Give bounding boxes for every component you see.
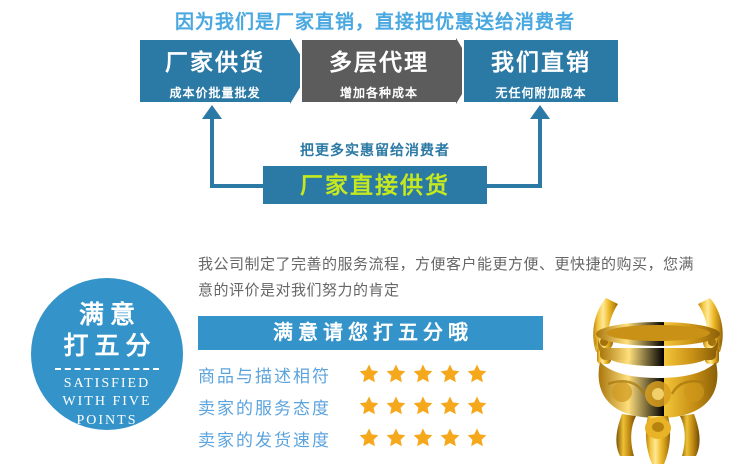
star-icon[interactable] xyxy=(358,427,380,449)
badge-cn-line-2: 打五分 xyxy=(31,331,183,362)
flow-step-subtitle: 成本价批量批发 xyxy=(140,84,290,101)
flow-step-title: 多层代理 xyxy=(302,51,456,74)
star-icon[interactable] xyxy=(358,395,380,417)
badge-en-line-1: SATISFIED xyxy=(31,375,183,393)
star-icon[interactable] xyxy=(412,395,434,417)
flow-step-subtitle: 增加各种成本 xyxy=(302,84,456,101)
star-icon[interactable] xyxy=(358,363,380,385)
flow-step-direct-sale: 我们直销 无任何附加成本 xyxy=(462,38,620,104)
flow-connector-diagram: 把更多实惠留给消费者 厂家直接供货 xyxy=(0,100,750,205)
rating-request-section: 满意 打五分 SATISFIED WITH FIVE POINTS 我公司制定了… xyxy=(0,228,750,474)
flow-step-title: 厂家供货 xyxy=(140,51,290,74)
star-rating-group[interactable] xyxy=(358,395,488,417)
badge-cn-line-1: 满意 xyxy=(31,300,183,331)
star-icon[interactable] xyxy=(466,363,488,385)
star-rating-group[interactable] xyxy=(358,427,488,449)
satisfied-five-points-badge: 满意 打五分 SATISFIED WITH FIVE POINTS xyxy=(31,278,183,430)
factory-direct-supply-banner: 厂家直接供货 xyxy=(263,166,487,204)
rate-five-stars-banner: 满意请您打五分哦 xyxy=(198,316,543,350)
arrow-up-icon-left xyxy=(202,105,222,119)
star-icon[interactable] xyxy=(439,427,461,449)
rating-label: 卖家的服务态度 xyxy=(198,394,358,419)
star-icon[interactable] xyxy=(466,395,488,417)
star-icon[interactable] xyxy=(385,363,407,385)
rating-row: 卖家的服务态度 xyxy=(198,392,598,420)
connector-line-horizontal-left xyxy=(210,184,270,188)
star-icon[interactable] xyxy=(412,427,434,449)
connector-line-horizontal-right xyxy=(480,184,542,188)
flow-step-manufacturer: 厂家供货 成本价批量批发 xyxy=(138,38,290,104)
badge-en-line-2: WITH FIVE xyxy=(31,393,183,411)
badge-en-line-3: POINTS xyxy=(31,412,183,430)
flow-step-subtitle: 无任何附加成本 xyxy=(464,84,618,101)
star-icon[interactable] xyxy=(385,427,407,449)
connector-caption: 把更多实惠留给消费者 xyxy=(0,140,750,160)
star-icon[interactable] xyxy=(439,395,461,417)
arrow-up-icon-right xyxy=(530,105,550,119)
rating-label: 卖家的发货速度 xyxy=(198,426,358,451)
rating-row: 商品与描述相符 xyxy=(198,360,598,388)
badge-dashed-divider xyxy=(55,368,159,370)
star-icon[interactable] xyxy=(439,363,461,385)
golden-incense-burner-image xyxy=(572,286,744,466)
star-icon[interactable] xyxy=(466,427,488,449)
rating-label: 商品与描述相符 xyxy=(198,362,358,387)
section-headline: 因为我们是厂家直销，直接把优惠送给消费者 xyxy=(0,7,750,34)
factory-direct-flow-section: 因为我们是厂家直销，直接把优惠送给消费者 厂家供货 成本价批量批发 多层代理 增… xyxy=(0,0,750,228)
flow-step-title: 我们直销 xyxy=(464,51,618,74)
star-icon[interactable] xyxy=(412,363,434,385)
star-rating-group[interactable] xyxy=(358,363,488,385)
rating-criteria-list: 商品与描述相符 卖家的服务态度 卖家的发货速度 xyxy=(198,360,598,456)
star-icon[interactable] xyxy=(385,395,407,417)
flow-step-multi-agent: 多层代理 增加各种成本 xyxy=(300,38,456,104)
rating-row: 卖家的发货速度 xyxy=(198,424,598,452)
